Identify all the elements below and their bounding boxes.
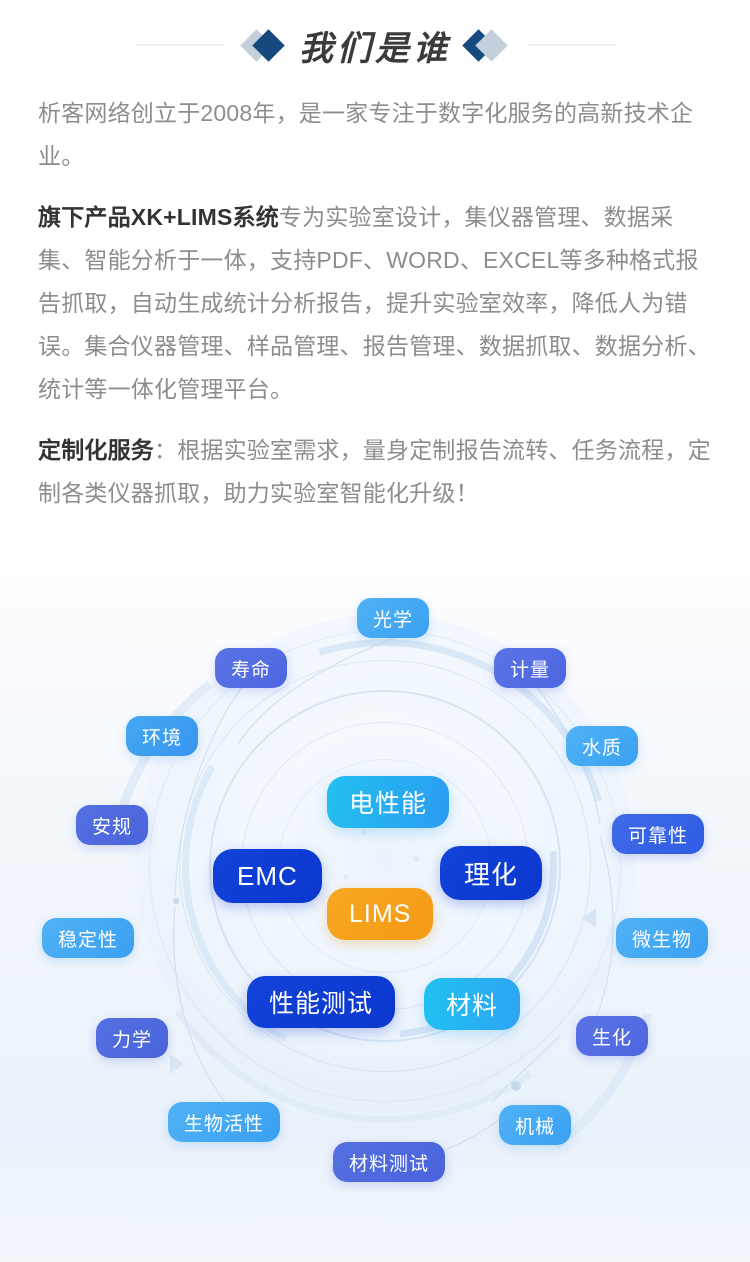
section-header: 我们是谁 [0, 0, 750, 90]
tag-label: 机械 [515, 1112, 555, 1139]
paragraph-2: 旗下产品XK+LIMS系统专为实验室设计，集仪器管理、数据采集、智能分析于一体，… [38, 196, 714, 411]
tag-item[interactable]: 性能测试 [247, 976, 395, 1028]
tag-label: LIMS [349, 900, 411, 929]
paragraph-2-lead: 旗下产品XK+LIMS系统 [38, 204, 279, 230]
tag-item[interactable]: EMC [213, 849, 322, 903]
tag-label: 材料测试 [349, 1149, 429, 1176]
tag-label: 安规 [92, 812, 132, 839]
about-copy: 析客网络创立于2008年，是一家专注于数字化服务的高新技术企业。 旗下产品XK+… [38, 92, 714, 533]
tag-label: 微生物 [632, 925, 692, 952]
tag-label: 光学 [373, 605, 413, 632]
tag-label: 力学 [112, 1025, 152, 1052]
tag-item[interactable]: 寿命 [215, 648, 287, 688]
tag-item[interactable]: 材料 [424, 978, 520, 1030]
tag-item[interactable]: 可靠性 [612, 814, 704, 854]
tag-label: 材料 [446, 986, 498, 1022]
diamond-pair-right-icon [455, 27, 511, 63]
tag-label: 可靠性 [628, 821, 688, 848]
promo-page: 我们是谁 析客网络创立于2008年，是一家专注于数字化服务的高新技术企业。 旗下… [0, 0, 750, 1262]
tag-label: 计量 [510, 655, 550, 682]
tag-cloud-stage: 光学寿命计量环境水质安规可靠性电性能EMC理化稳定性微生物性能测试材料生化力学机… [0, 566, 750, 1262]
tag-label: 稳定性 [58, 925, 118, 952]
page-title: 我们是谁 [295, 21, 455, 70]
tag-item[interactable]: 水质 [566, 726, 638, 766]
tag-item[interactable]: 稳定性 [42, 918, 134, 958]
tag-label: 电性能 [349, 784, 427, 820]
tag-label: 性能测试 [269, 984, 373, 1020]
tag-item[interactable]: 电性能 [327, 776, 449, 828]
tag-item[interactable]: 安规 [76, 805, 148, 845]
tag-item[interactable]: 光学 [357, 598, 429, 638]
tag-item[interactable]: 生化 [576, 1016, 648, 1056]
tag-label: 水质 [582, 733, 622, 760]
tag-item[interactable]: 微生物 [616, 918, 708, 958]
tag-item[interactable]: 理化 [440, 846, 542, 900]
paragraph-3-lead: 定制化服务 [38, 437, 154, 463]
tag-label: 生物活性 [184, 1109, 264, 1136]
tag-item[interactable]: 力学 [96, 1018, 168, 1058]
tag-label: 生化 [592, 1023, 632, 1050]
header-rule-left [135, 44, 223, 46]
tag-label: 环境 [142, 723, 182, 750]
tag-label: 理化 [464, 855, 518, 892]
header-rule-right [527, 44, 615, 46]
tag-item[interactable]: 生物活性 [168, 1102, 280, 1142]
tag-label: EMC [237, 861, 298, 892]
tag-item[interactable]: 计量 [494, 648, 566, 688]
tag-item-lims[interactable]: LIMS [327, 888, 433, 940]
paragraph-2-text: 专为实验室设计，集仪器管理、数据采集、智能分析于一体，支持PDF、WORD、EX… [38, 204, 711, 402]
tag-label: 寿命 [231, 655, 271, 682]
tag-item[interactable]: 环境 [126, 716, 198, 756]
paragraph-1-text: 析客网络创立于2008年，是一家专注于数字化服务的高新技术企业。 [38, 100, 693, 169]
tag-item[interactable]: 材料测试 [333, 1142, 445, 1182]
paragraph-3: 定制化服务：根据实验室需求，量身定制报告流转、任务流程，定制各类仪器抓取，助力实… [38, 429, 714, 515]
diamond-pair-left-icon [239, 27, 295, 63]
tag-item[interactable]: 机械 [499, 1105, 571, 1145]
paragraph-1: 析客网络创立于2008年，是一家专注于数字化服务的高新技术企业。 [38, 92, 714, 178]
